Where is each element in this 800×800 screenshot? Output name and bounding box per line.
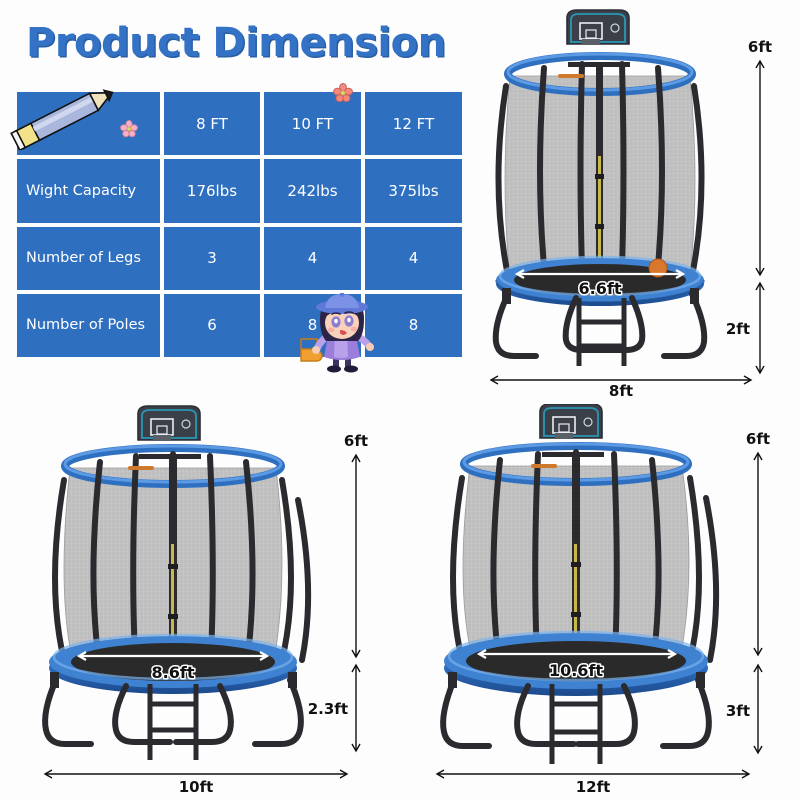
dimension-label-mat-diameter-10ft: 8.6ft (152, 663, 195, 682)
table-cell-legs-10ft: 4 (264, 227, 361, 290)
table-row-label-number-of-poles: Number of Poles (17, 294, 160, 357)
table-header-12ft: 12 FT (365, 92, 462, 155)
product-dimension-infographic: Product Dimension (0, 0, 800, 800)
pencil-icon (5, 80, 130, 150)
dimension-leg-height-12ft (754, 665, 762, 753)
table-cell-weight-12ft: 375lbs (365, 159, 462, 222)
trampoline-svg-12ft: 6ft 3ft 10.6ft 12ft (404, 404, 800, 800)
trampoline-diagram-8ft: 6ft 2ft 6.6ft 8ft (462, 6, 800, 398)
dimension-height-10ft (352, 455, 360, 657)
ladder (150, 684, 196, 760)
dimension-label-height-10ft: 6ft (344, 432, 368, 450)
table-header-8ft: 8 FT (164, 92, 260, 155)
table-corner-cell (17, 92, 160, 155)
dimension-label-total-width-8ft: 8ft (609, 382, 633, 398)
dimension-label-mat-diameter-8ft: 6.6ft (579, 279, 622, 298)
dimension-label-height-12ft: 6ft (746, 430, 770, 448)
page-title: Product Dimension (26, 20, 446, 66)
dimension-label-total-width-10ft: 10ft (179, 778, 214, 796)
dimension-label-height-8ft: 6ft (748, 38, 772, 56)
dimension-label-leg-height-10ft: 2.3ft (308, 700, 348, 718)
table-cell-legs-8ft: 3 (164, 227, 260, 290)
table-row-label-weight-capacity: Wight Capacity (17, 159, 160, 222)
dimension-height-8ft (756, 61, 764, 275)
trampoline-svg-8ft: 6ft 2ft 6.6ft 8ft (462, 6, 800, 398)
dimension-leg-height-10ft (352, 665, 360, 751)
dimension-label-mat-diameter-12ft: 10.6ft (549, 661, 603, 680)
dimension-height-12ft (754, 453, 762, 655)
flower-icon (333, 83, 353, 103)
dimension-label-leg-height-8ft: 2ft (726, 320, 750, 338)
basketball-hoop-icon (567, 10, 629, 45)
table-cell-legs-12ft: 4 (365, 227, 462, 290)
basketball-hoop-icon (540, 404, 602, 439)
dimension-leg-height-8ft (756, 283, 764, 373)
table-cell-weight-10ft: 242lbs (264, 159, 361, 222)
dimension-total-width-12ft (437, 770, 749, 778)
trampoline-svg-10ft: 6ft 2.3ft 8.6ft 10ft (8, 404, 400, 800)
table-cell-weight-8ft: 176lbs (164, 159, 260, 222)
flower-icon (120, 120, 138, 138)
table-cell-poles-8ft: 6 (164, 294, 260, 357)
basketball-hoop-icon (138, 406, 200, 441)
table-row-label-number-of-legs: Number of Legs (17, 227, 160, 290)
ladder (579, 298, 624, 366)
dimension-label-leg-height-12ft: 3ft (726, 702, 750, 720)
trampoline-diagram-12ft: 6ft 3ft 10.6ft 12ft (404, 404, 800, 800)
girl-character-illustration (295, 293, 387, 373)
dimension-label-total-width-12ft: 12ft (576, 778, 611, 796)
trampoline-diagram-10ft: 6ft 2.3ft 8.6ft 10ft (8, 404, 400, 800)
dimension-total-width-10ft (45, 770, 347, 778)
